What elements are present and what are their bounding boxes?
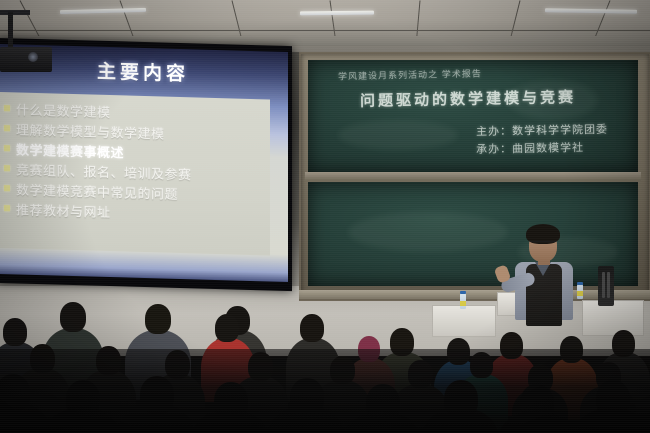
chalk-organizer: 主办：数学科学学院团委 bbox=[476, 121, 608, 139]
bullet-square-icon bbox=[4, 125, 10, 131]
lecture-hall-photo: 学风建设月系列活动之 学术报告 问题驱动的数学建模与竞赛 主办：数学科学学院团委… bbox=[0, 0, 650, 433]
bullet-square-icon bbox=[4, 205, 10, 211]
seated-audience bbox=[0, 300, 650, 433]
blackboard-divider bbox=[305, 172, 641, 181]
projection-screen: 主要内容 什么是数学建模 理解数学模型与数学建模 数学建模赛事概述 bbox=[0, 38, 292, 291]
projector-lens-icon bbox=[28, 52, 38, 62]
tube-light bbox=[60, 8, 146, 14]
bullet-square-icon bbox=[4, 165, 10, 171]
presentation-slide: 主要内容 什么是数学建模 理解数学模型与数学建模 数学建模赛事概述 bbox=[0, 44, 288, 282]
blackboard-upper-panel: 学风建设月系列活动之 学术报告 问题驱动的数学建模与竞赛 主办：数学科学学院团委… bbox=[308, 60, 638, 172]
bullet-label: 数学建模赛事概述 bbox=[16, 139, 124, 161]
slide-bullet-list: 什么是数学建模 理解数学模型与数学建模 数学建模赛事概述 竞赛组队、报名、培训及… bbox=[0, 92, 270, 256]
bullet-label: 什么是数学建模 bbox=[16, 99, 111, 121]
blackboard: 学风建设月系列活动之 学术报告 问题驱动的数学建模与竞赛 主办：数学科学学院团委… bbox=[299, 52, 650, 301]
bullet-label: 推荐教材与网址 bbox=[16, 199, 111, 221]
chalk-co-organizer: 承办：曲园数模学社 bbox=[476, 139, 584, 157]
bullet-square-icon bbox=[4, 185, 10, 191]
bullet-square-icon bbox=[4, 145, 10, 151]
blackboard-lower-panel bbox=[308, 182, 638, 286]
tube-light bbox=[545, 8, 637, 14]
chalk-banner-text: 学风建设月系列活动之 学术报告 bbox=[338, 66, 482, 82]
glasses-icon bbox=[530, 241, 556, 247]
chalk-main-title: 问题驱动的数学建模与竞赛 bbox=[360, 86, 576, 111]
bullet-square-icon bbox=[4, 105, 10, 111]
tube-light bbox=[300, 11, 374, 16]
